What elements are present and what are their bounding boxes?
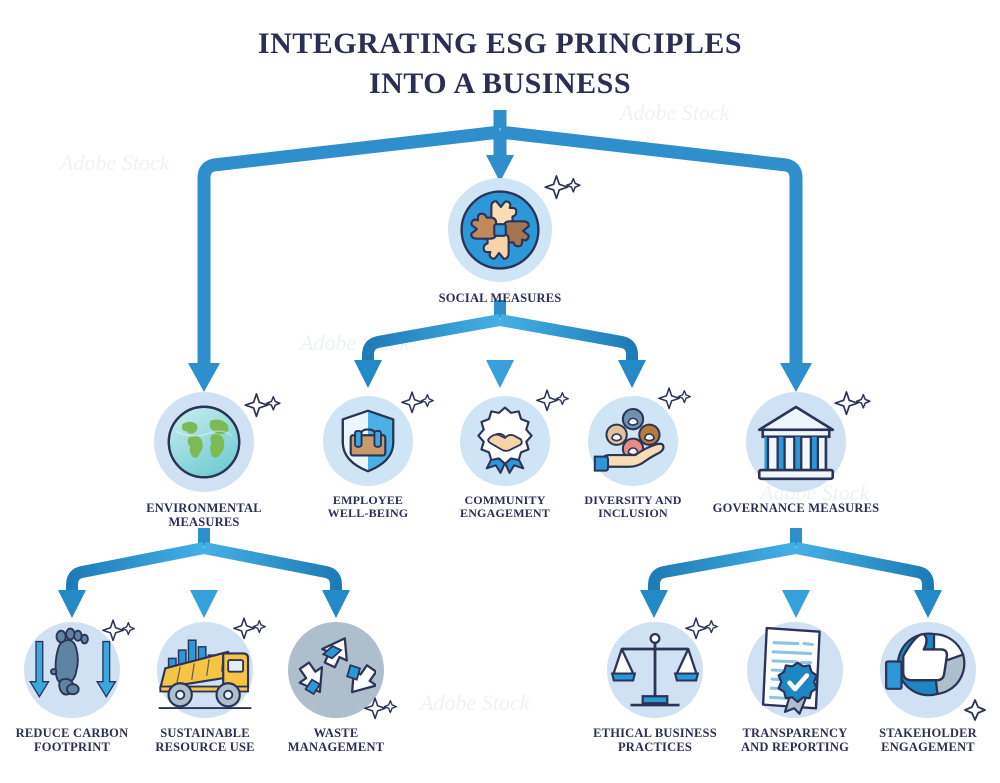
governance-measures-disc (746, 392, 846, 492)
watermark-tile: Adobe Stock (620, 100, 729, 126)
reduce-carbon-disc (24, 622, 120, 718)
shield-briefcase-icon (332, 405, 404, 477)
diagram-canvas: Adobe Stock Adobe Stock Adobe Stock Adob… (0, 0, 1000, 783)
employee-wellbeing-disc (323, 396, 413, 486)
node-sustainable-resource-use[interactable]: SUSTAINABLE RESOURCE USE (142, 622, 268, 754)
employee-wellbeing-label: EMPLOYEE WELL-BEING (312, 494, 424, 521)
transparency-reporting-label: TRANSPARENCY AND REPORTING (730, 726, 860, 754)
node-reduce-carbon-footprint[interactable]: REDUCE CARBON FOOTPRINT (8, 622, 136, 754)
connector-social-children (354, 300, 646, 388)
node-stakeholder-engagement[interactable]: STAKEHOLDER ENGAGEMENT (864, 622, 992, 754)
node-waste-management[interactable]: WASTE MANAGEMENT (276, 622, 396, 754)
node-governance-measures[interactable]: GOVERNANCE MEASURES (704, 392, 888, 515)
balance-scales-icon (611, 628, 699, 712)
four-hands-icon (452, 182, 548, 278)
community-engagement-disc (460, 396, 550, 486)
handshake-badge-icon (467, 403, 543, 479)
environmental-measures-label: ENVIRONMENTAL MEASURES (112, 501, 296, 529)
node-community-engagement[interactable]: COMMUNITY ENGAGEMENT (444, 396, 566, 521)
watermark-tile: Adobe Stock (300, 330, 409, 356)
environmental-measures-disc (154, 392, 254, 492)
dump-truck-chart-icon (157, 628, 253, 712)
title-line-1: INTEGRATING ESG PRINCIPLES (258, 27, 742, 60)
watermark-tile: Adobe Stock (60, 150, 169, 176)
bank-building-icon (752, 400, 840, 484)
sparkle-icon (401, 390, 435, 418)
diversity-inclusion-disc (588, 396, 678, 486)
ethical-business-disc (607, 622, 703, 718)
reduce-carbon-label: REDUCE CARBON FOOTPRINT (8, 726, 136, 754)
footprint-down-arrows-icon (26, 626, 118, 714)
globe-earth-icon (160, 398, 248, 486)
recycling-symbol-icon (296, 630, 376, 710)
sustainable-resource-disc (157, 622, 253, 718)
social-measures-disc (448, 178, 552, 282)
sustainable-resource-label: SUSTAINABLE RESOURCE USE (142, 726, 268, 754)
page-title: INTEGRATING ESG PRINCIPLES INTO A BUSINE… (0, 24, 1000, 103)
hand-holding-people-icon (590, 402, 676, 480)
title-line-2: INTO A BUSINESS (0, 64, 1000, 104)
node-ethical-business-practices[interactable]: ETHICAL BUSINESS PRACTICES (588, 622, 722, 754)
stakeholder-engagement-label: STAKEHOLDER ENGAGEMENT (864, 726, 992, 754)
waste-management-disc (288, 622, 384, 718)
social-measures-label: SOCIAL MEASURES (420, 291, 580, 305)
watermark-tile: Adobe Stock (420, 690, 529, 716)
node-social-measures[interactable]: SOCIAL MEASURES (420, 178, 580, 305)
stakeholder-engagement-disc (880, 622, 976, 718)
node-environmental-measures[interactable]: ENVIRONMENTAL MEASURES (112, 392, 296, 529)
waste-management-label: WASTE MANAGEMENT (276, 726, 396, 754)
node-transparency-reporting[interactable]: TRANSPARENCY AND REPORTING (730, 622, 860, 754)
document-seal-check-icon (754, 624, 836, 716)
governance-measures-label: GOVERNANCE MEASURES (704, 501, 888, 515)
community-engagement-label: COMMUNITY ENGAGEMENT (444, 494, 566, 521)
ethical-business-label: ETHICAL BUSINESS PRACTICES (588, 726, 722, 754)
connector-governance-children (640, 528, 942, 618)
sparkle-icon (244, 392, 282, 422)
sparkle-icon (544, 174, 582, 204)
node-diversity-inclusion[interactable]: DIVERSITY AND INCLUSION (572, 396, 694, 521)
thumbs-up-pie-chart-icon (881, 627, 975, 713)
transparency-reporting-disc (747, 622, 843, 718)
diversity-inclusion-label: DIVERSITY AND INCLUSION (572, 494, 694, 521)
connector-environmental-children (58, 528, 350, 618)
node-employee-wellbeing[interactable]: EMPLOYEE WELL-BEING (312, 396, 424, 521)
